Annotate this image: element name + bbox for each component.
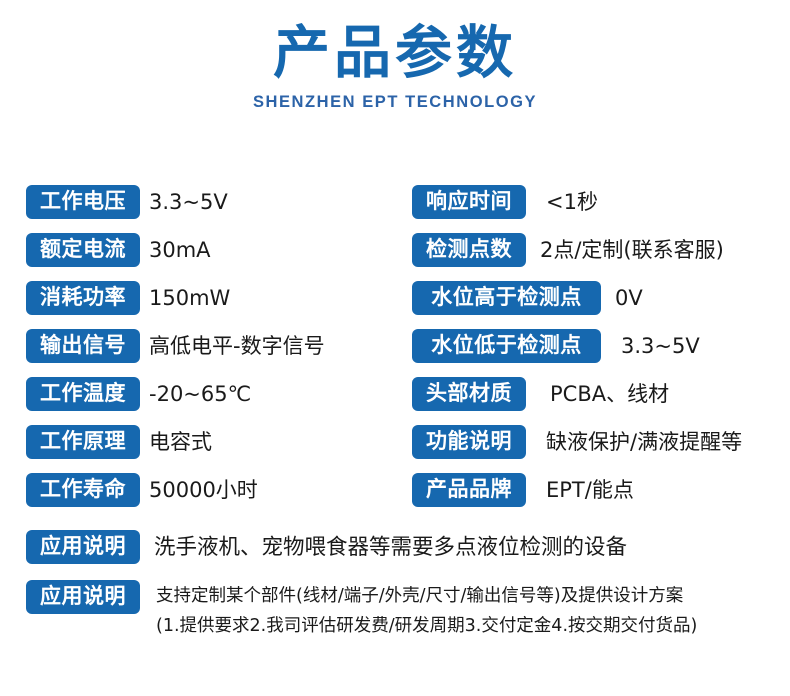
spec-label-output-signal: 输出信号 [26, 329, 140, 363]
spec-row: 工作温度 -20~65℃ 头部材质 PCBA、线材 [0, 377, 790, 425]
spec-label-rated-current: 额定电流 [26, 233, 140, 267]
spec-label-product-brand: 产品品牌 [412, 473, 526, 507]
spec-row: 工作寿命 50000小时 产品品牌 EPT/能点 [0, 473, 790, 521]
spec-cell-right: 水位低于检测点 3.3~5V [395, 329, 790, 363]
spec-cell-left: 工作原理 电容式 [0, 425, 395, 459]
page-title: 产品参数 [0, 22, 790, 86]
spec-row: 工作电压 3.3~5V 响应时间 <1秒 [0, 185, 790, 233]
spec-cell-left: 额定电流 30mA [0, 233, 395, 267]
spec-value-working-temperature: -20~65℃ [149, 377, 251, 405]
spec-value-working-life: 50000小时 [149, 473, 258, 501]
spec-cell-left: 工作温度 -20~65℃ [0, 377, 395, 411]
spec-row: 额定电流 30mA 检测点数 2点/定制(联系客服) [0, 233, 790, 281]
spec-value-rated-current: 30mA [149, 233, 211, 261]
page-subtitle: SHENZHEN EPT TECHNOLOGY [0, 93, 790, 112]
spec-cell-right: 功能说明 缺液保护/满液提醒等 [395, 425, 790, 459]
spec-label-working-principle: 工作原理 [26, 425, 140, 459]
spec-cell-left: 消耗功率 150mW [0, 281, 395, 315]
spec-cell-right: 响应时间 <1秒 [395, 185, 790, 219]
spec-value-water-below-point: 3.3~5V [621, 329, 700, 357]
spec-row: 消耗功率 150mW 水位高于检测点 0V [0, 281, 790, 329]
spec-cell-right: 头部材质 PCBA、线材 [395, 377, 790, 411]
application-row-customization: 应用说明 支持定制某个部件(线材/端子/外壳/尺寸/输出信号等)及提供设计方案 … [0, 580, 790, 640]
application-notes: 应用说明 洗手液机、宠物喂食器等需要多点液位检测的设备 应用说明 支持定制某个部… [0, 530, 790, 656]
spec-cell-right: 水位高于检测点 0V [395, 281, 790, 315]
customization-line-1: 支持定制某个部件(线材/端子/外壳/尺寸/输出信号等)及提供设计方案 [156, 580, 697, 610]
spec-label-response-time: 响应时间 [412, 185, 526, 219]
customization-line-2: (1.提供要求2.我司评估研发费/研发周期3.交付定金4.按交期交付货品) [156, 610, 697, 640]
spec-value-response-time: <1秒 [546, 185, 598, 213]
spec-cell-left: 工作寿命 50000小时 [0, 473, 395, 507]
application-row-devices: 应用说明 洗手液机、宠物喂食器等需要多点液位检测的设备 [0, 530, 790, 564]
spec-label-working-life: 工作寿命 [26, 473, 140, 507]
spec-value-detection-points: 2点/定制(联系客服) [540, 233, 724, 261]
spec-label-function-description: 功能说明 [412, 425, 526, 459]
spec-value-working-voltage: 3.3~5V [149, 185, 228, 213]
spec-value-working-principle: 电容式 [149, 425, 212, 453]
spec-row: 工作原理 电容式 功能说明 缺液保护/满液提醒等 [0, 425, 790, 473]
spec-label-detection-points: 检测点数 [412, 233, 526, 267]
spec-value-function-description: 缺液保护/满液提醒等 [546, 425, 742, 453]
spec-cell-right: 产品品牌 EPT/能点 [395, 473, 790, 507]
spec-value-product-brand: EPT/能点 [546, 473, 634, 501]
spec-cell-right: 检测点数 2点/定制(联系客服) [395, 233, 790, 267]
spec-row: 输出信号 高低电平-数字信号 水位低于检测点 3.3~5V [0, 329, 790, 377]
spec-value-application-devices: 洗手液机、宠物喂食器等需要多点液位检测的设备 [154, 530, 627, 561]
spec-label-working-voltage: 工作电压 [26, 185, 140, 219]
spec-label-working-temperature: 工作温度 [26, 377, 140, 411]
spec-cell-left: 工作电压 3.3~5V [0, 185, 395, 219]
spec-value-application-customization: 支持定制某个部件(线材/端子/外壳/尺寸/输出信号等)及提供设计方案 (1.提供… [140, 580, 697, 640]
spec-label-head-material: 头部材质 [412, 377, 526, 411]
spec-label-power-consumption: 消耗功率 [26, 281, 140, 315]
spec-value-head-material: PCBA、线材 [550, 377, 669, 405]
page-header: 产品参数 SHENZHEN EPT TECHNOLOGY [0, 0, 790, 112]
spec-label-water-below-point: 水位低于检测点 [412, 329, 601, 363]
spec-label-application-customization: 应用说明 [26, 580, 140, 614]
spec-label-application-devices: 应用说明 [26, 530, 140, 564]
spec-label-water-above-point: 水位高于检测点 [412, 281, 601, 315]
spec-value-power-consumption: 150mW [149, 281, 230, 309]
spec-table: 工作电压 3.3~5V 响应时间 <1秒 额定电流 30mA 检测点数 2点/定… [0, 185, 790, 521]
spec-cell-left: 输出信号 高低电平-数字信号 [0, 329, 395, 363]
spec-value-output-signal: 高低电平-数字信号 [149, 329, 325, 357]
spec-value-water-above-point: 0V [615, 281, 643, 309]
